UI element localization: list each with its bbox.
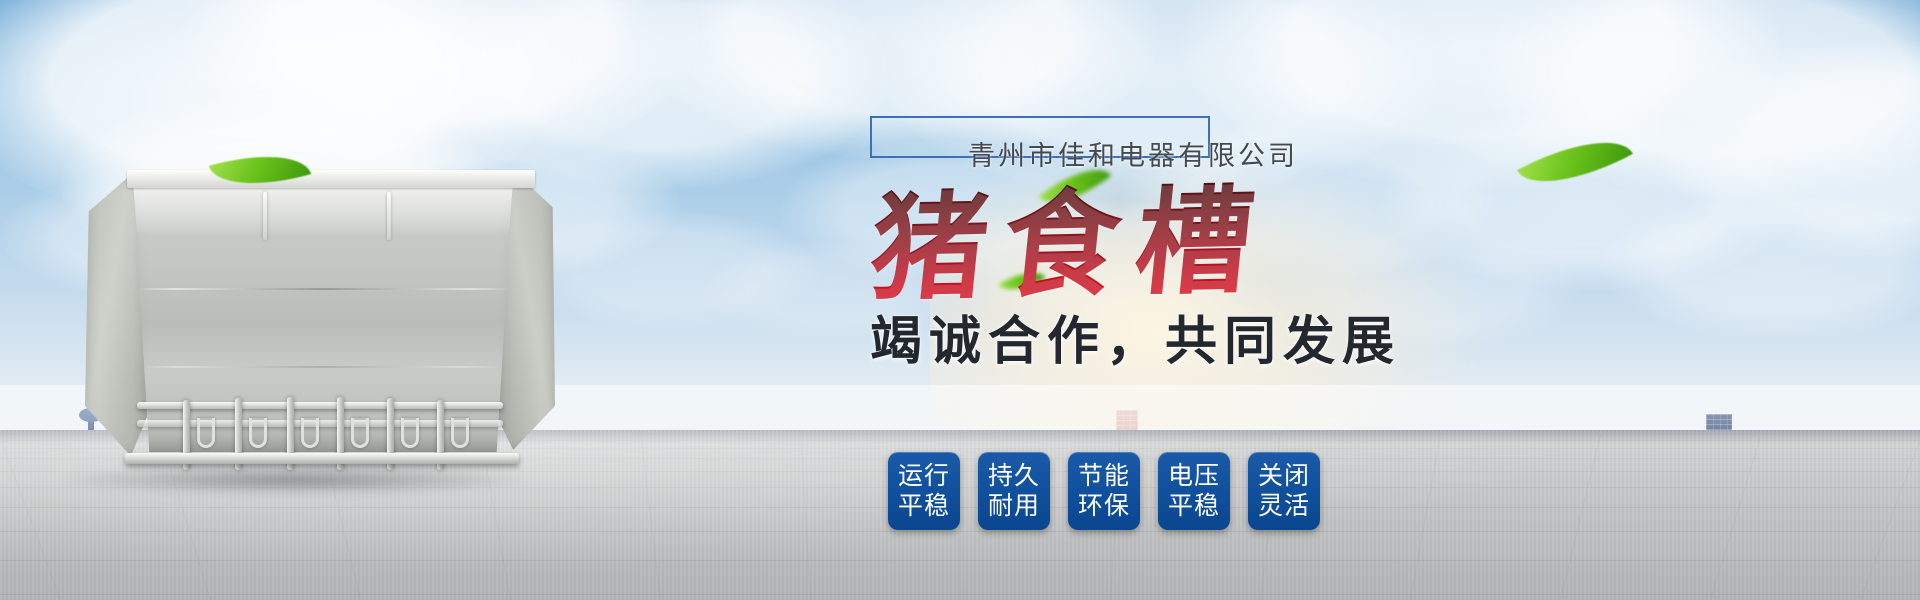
feature-badge-5[interactable]: 关闭灵活 — [1248, 452, 1320, 530]
plaza-tile-line — [1560, 435, 1601, 600]
badge-line-2: 平稳 — [1168, 491, 1220, 521]
badge-line-1: 持久 — [988, 461, 1040, 491]
plaza-tile-line — [1, 440, 61, 600]
trough-feed-hook — [249, 418, 267, 448]
plaza-tile-line — [1710, 437, 1761, 600]
badge-line-1: 电压 — [1168, 461, 1220, 491]
trough-back-rib — [263, 192, 267, 240]
badge-line-2: 环保 — [1078, 491, 1130, 521]
trough-weld-seam — [143, 366, 499, 368]
trough-top-rim — [127, 170, 535, 188]
trough-back-rib — [387, 192, 391, 240]
trough-inner-lip — [121, 184, 525, 238]
feature-badge-4[interactable]: 电压平稳 — [1158, 452, 1230, 530]
trough-feed-hook — [301, 418, 319, 448]
headline-group: 青州市佳和电器有限公司 猪食槽 竭诚合作，共同发展 — [860, 112, 1560, 374]
trough-feed-rail — [137, 402, 503, 409]
trough-weld-seam — [137, 288, 509, 290]
trough-feed-hook — [451, 418, 469, 448]
badge-line-2: 平稳 — [898, 491, 950, 521]
feature-badge-1[interactable]: 运行平稳 — [888, 452, 960, 530]
plaza-tile-line — [800, 430, 811, 600]
trough-feed-hook — [197, 418, 215, 448]
page-title: 猪食槽 — [853, 173, 1567, 313]
plaza-tile-line — [1860, 440, 1920, 600]
plaza-tile-line — [640, 431, 661, 600]
trough-feed-hook — [401, 418, 419, 448]
badge-line-1: 关闭 — [1258, 461, 1310, 491]
badge-line-1: 节能 — [1078, 461, 1130, 491]
feature-badge-list: 运行平稳持久耐用节能环保电压平稳关闭灵活 — [888, 452, 1320, 530]
badge-line-1: 运行 — [898, 461, 950, 491]
trough-base-bar — [125, 453, 519, 464]
badge-line-2: 耐用 — [988, 491, 1040, 521]
badge-line-2: 灵活 — [1258, 491, 1310, 521]
feature-badge-2[interactable]: 持久耐用 — [978, 452, 1050, 530]
product-image-feeding-trough — [85, 170, 555, 470]
company-name-block: 青州市佳和电器有限公司 — [860, 112, 1560, 176]
page-subtitle: 竭诚合作，共同发展 — [870, 299, 1560, 374]
company-name: 青州市佳和电器有限公司 — [968, 134, 1298, 173]
promo-banner: 青州市佳和电器有限公司 猪食槽 竭诚合作，共同发展 运行平稳持久耐用节能环保电压… — [0, 0, 1920, 600]
feature-badge-3[interactable]: 节能环保 — [1068, 452, 1140, 530]
trough-feed-hook — [351, 418, 369, 448]
trough-feed-rail — [137, 420, 503, 427]
